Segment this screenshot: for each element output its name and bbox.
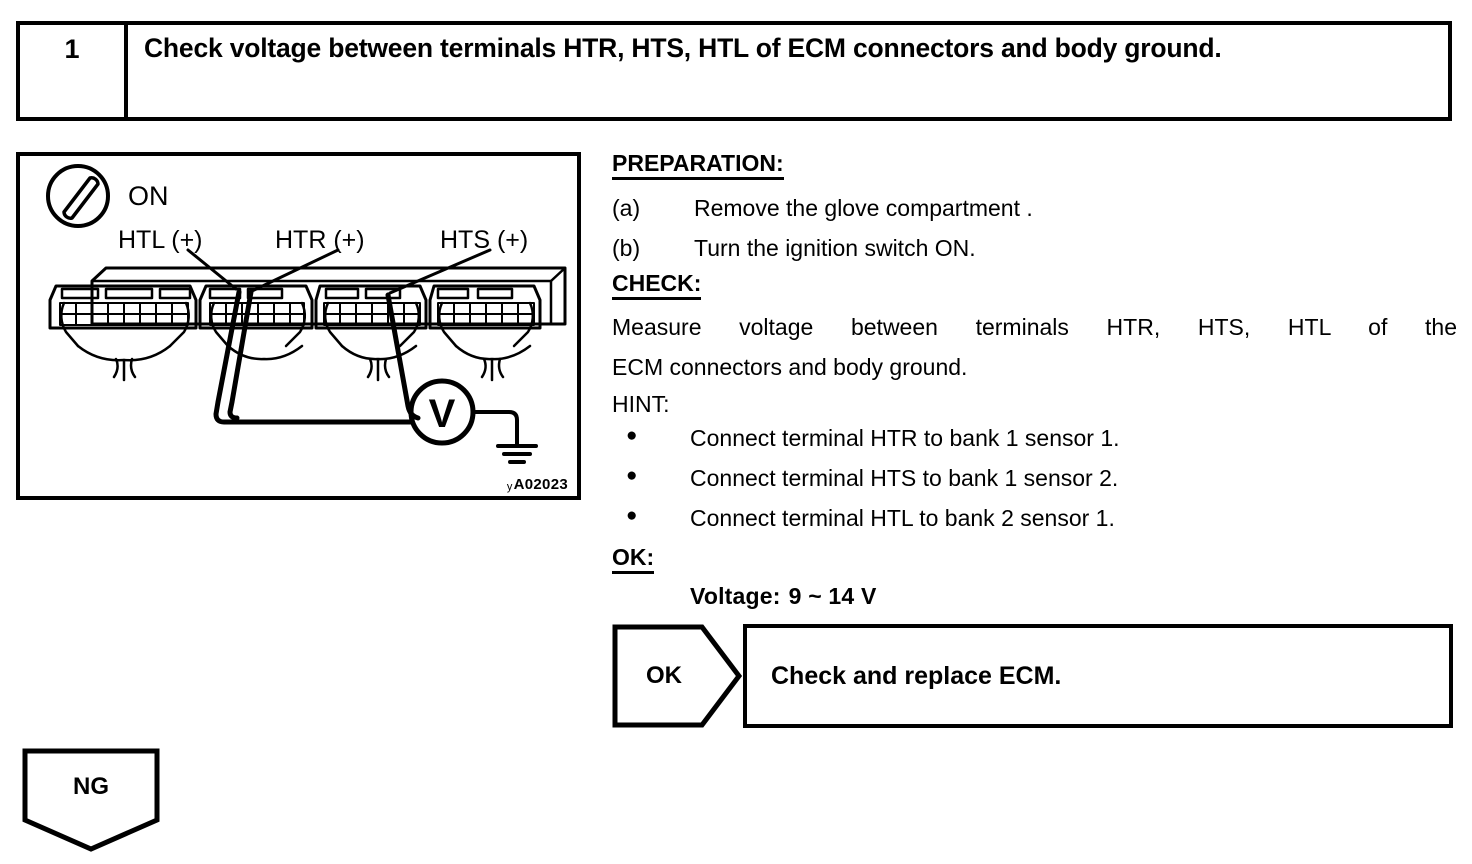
voltmeter-symbol: V (411, 381, 473, 443)
hint-heading: HINT: (612, 393, 1457, 416)
preparation-text-a: Remove the glove compartment . (694, 189, 1033, 229)
list-item: ● Connect terminal HTS to bank 1 sensor … (612, 458, 1457, 498)
hint-text-3: Connect terminal HTL to bank 2 sensor 1. (690, 498, 1115, 538)
figure-id-prefix: y (507, 481, 513, 493)
hint-list: ● Connect terminal HTR to bank 1 sensor … (612, 418, 1457, 538)
figure-id: yA02023 (507, 476, 568, 493)
step-number-cell: 1 (20, 25, 128, 117)
connector-group-3 (316, 286, 426, 380)
ng-branch-arrow: NG (22, 748, 160, 852)
bullet-icon: ● (612, 418, 690, 458)
hint-block: HINT: ● Connect terminal HTR to bank 1 s… (612, 393, 1457, 538)
ok-branch-tag: OK (612, 624, 716, 728)
ok-branch-row: OK Check and replace ECM. (612, 624, 1453, 728)
hint-text-1: Connect terminal HTR to bank 1 sensor 1. (690, 418, 1120, 458)
step-header-box: 1 Check voltage between terminals HTR, H… (16, 21, 1452, 121)
list-item: (a) Remove the glove compartment . (612, 189, 1457, 229)
terminal-label-hts: HTS (+) (440, 226, 528, 254)
check-line-2: ECM connectors and body ground. (612, 347, 1457, 387)
bullet-icon: ● (612, 498, 690, 538)
ignition-on-label: ON (128, 181, 169, 211)
procedure-text-column: PREPARATION: (a) Remove the glove compar… (612, 152, 1457, 610)
ok-branch-arrow: OK (612, 624, 742, 728)
ng-branch-tag: NG (22, 748, 160, 826)
figure-id-code: A02023 (514, 476, 568, 493)
check-body: Measure voltage between terminals HTR, H… (612, 307, 1457, 387)
bullet-icon: ● (612, 458, 690, 498)
ok-spec-line: Voltage:9 ~ 14 V (690, 583, 1457, 610)
terminal-label-htr: HTR (+) (275, 226, 365, 254)
preparation-marker-a: (a) (612, 189, 694, 229)
ecm-connector-housing (92, 268, 565, 324)
list-item: (b) Turn the ignition switch ON. (612, 229, 1457, 269)
terminal-label-htl: HTL (+) (118, 226, 203, 254)
step-title-cell: Check voltage between terminals HTR, HTS… (128, 25, 1448, 117)
list-item: ● Connect terminal HTR to bank 1 sensor … (612, 418, 1457, 458)
figure-panel: V ON HTL (+) HTR (+) HTS (+) yA02023 (16, 152, 581, 500)
preparation-heading: PREPARATION: (612, 152, 784, 180)
ignition-switch-icon (48, 166, 108, 226)
preparation-list: (a) Remove the glove compartment . (b) T… (612, 189, 1457, 268)
ecm-connector-illustration: V ON HTL (+) HTR (+) HTS (+) (20, 156, 577, 496)
svg-text:V: V (429, 392, 456, 436)
ground-symbol (473, 412, 536, 462)
ok-spec-label: Voltage: (690, 583, 781, 609)
ok-spec-value: 9 ~ 14 V (789, 583, 877, 609)
hint-text-2: Connect terminal HTS to bank 1 sensor 2. (690, 458, 1118, 498)
ok-result-box: Check and replace ECM. (743, 624, 1453, 728)
list-item: ● Connect terminal HTL to bank 2 sensor … (612, 498, 1457, 538)
preparation-marker-b: (b) (612, 229, 694, 269)
check-heading: CHECK: (612, 272, 701, 300)
step-number: 1 (64, 34, 79, 65)
check-line-1: Measure voltage between terminals HTR, H… (612, 307, 1457, 347)
ok-result-action: Check and replace ECM. (771, 662, 1061, 691)
connector-group-4 (430, 286, 540, 380)
ok-spec-heading: OK: (612, 546, 654, 574)
connector-group-1 (50, 286, 196, 380)
step-title: Check voltage between terminals HTR, HTS… (144, 31, 1438, 66)
preparation-text-b: Turn the ignition switch ON. (694, 229, 976, 269)
